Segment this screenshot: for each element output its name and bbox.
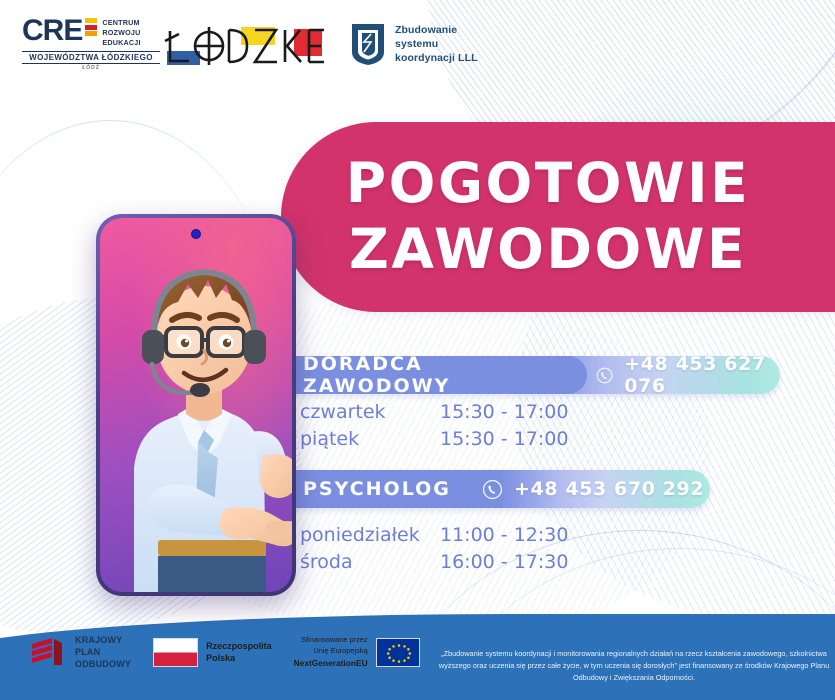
contact-title-psycholog: PSYCHOLOG [303, 478, 451, 500]
schedule-day: środa [300, 551, 440, 573]
eu-line-1: Sfinansowane przez [294, 635, 368, 646]
eu-line-3: NextGenerationEU [294, 657, 368, 669]
schedule-time: 16:00 - 17:30 [440, 551, 568, 573]
phone-handset-icon [596, 365, 613, 386]
kpo-line-1: KRAJOWY [75, 634, 131, 646]
cre-color-bars-icon [85, 18, 97, 36]
zbudowanie-line-3: koordynacji LLL [395, 51, 478, 65]
footer-logo-row: KRAJOWY PLAN ODBUDOWY Rzeczpospolita Pol… [28, 628, 420, 676]
header-logo-strip: CRE CENTRUM ROZWOJU EDUKACJI WOJEWÓDZTWA… [0, 0, 835, 92]
kpo-line-3: ODBUDOWY [75, 658, 131, 670]
cre-acronym: CRE [22, 16, 82, 46]
rp-text: Rzeczpospolita Polska [206, 640, 272, 665]
footer-disclaimer: „Zbudowanie systemu koordynacji i monito… [438, 648, 830, 683]
consultant-mascot-illustration [100, 218, 292, 592]
kpo-line-2: PLAN [75, 646, 131, 658]
rp-line-2: Polska [206, 652, 272, 664]
phone-handset-icon [482, 479, 503, 500]
zbudowanie-logo: Zbudowanie systemu koordynacji LLL [350, 22, 478, 66]
schedule-row: środa 16:00 - 17:30 [300, 551, 568, 578]
schedule-time: 15:30 - 17:00 [440, 428, 568, 450]
phone-screen [100, 218, 292, 592]
eu-text: Sfinansowane przez Unię Europejską NextG… [294, 635, 368, 669]
schedule-psycholog: poniedziałek 11:00 - 12:30 środa 16:00 -… [300, 524, 568, 578]
shield-book-icon [350, 22, 386, 66]
zbudowanie-line-1: Zbudowanie [395, 23, 478, 37]
lodzkie-logo [163, 21, 328, 71]
schedule-row: piątek 15:30 - 17:00 [300, 428, 568, 455]
schedule-time: 11:00 - 12:30 [440, 524, 568, 546]
schedule-row: poniedziałek 11:00 - 12:30 [300, 524, 568, 551]
kpo-text: KRAJOWY PLAN ODBUDOWY [75, 634, 131, 671]
phone-group-psycholog[interactable]: +48 453 670 292 [482, 470, 704, 508]
rp-line-1: Rzeczpospolita [206, 640, 272, 652]
contact-pill-psycholog[interactable]: PSYCHOLOG +48 453 670 292 [274, 470, 710, 508]
cre-line-1: CENTRUM [102, 18, 140, 28]
lodzkie-wordmark-icon [163, 21, 328, 71]
cre-city: ŁÓDŹ [22, 65, 160, 71]
eu-flag-icon [376, 638, 420, 667]
pill-label-block-psycholog: PSYCHOLOG [274, 470, 470, 508]
eu-stars-icon [377, 639, 421, 668]
contact-title-doradca: DORADCA ZAWODOWY [303, 353, 570, 397]
cre-line-3: EDUKACJI [102, 38, 140, 48]
schedule-day: czwartek [300, 401, 440, 423]
cre-logo: CRE CENTRUM ROZWOJU EDUKACJI WOJEWÓDZTWA… [22, 16, 160, 71]
phone-body [96, 214, 296, 596]
poland-flag-icon [153, 638, 198, 667]
eu-line-2: Unię Europejską [294, 646, 368, 657]
kpo-logo: KRAJOWY PLAN ODBUDOWY [28, 634, 131, 671]
kpo-building-icon [28, 634, 68, 670]
cre-line-2: ROZWOJU [102, 28, 140, 38]
zbudowanie-line-2: systemu [395, 37, 478, 51]
schedule-time: 15:30 - 17:00 [440, 401, 568, 423]
rzeczpospolita-polska-logo: Rzeczpospolita Polska [153, 638, 272, 667]
pill-label-block-doradca: DORADCA ZAWODOWY [274, 356, 570, 394]
schedule-doradca: czwartek 15:30 - 17:00 piątek 15:30 - 17… [300, 401, 568, 455]
schedule-day: piątek [300, 428, 440, 450]
contact-phone-psycholog[interactable]: +48 453 670 292 [514, 478, 704, 500]
cre-subtitle: WOJEWÓDZTWA ŁÓDZKIEGO [22, 51, 160, 64]
phone-camera-icon [191, 229, 201, 239]
schedule-day: poniedziałek [300, 524, 440, 546]
schedule-row: czwartek 15:30 - 17:00 [300, 401, 568, 428]
poster-root: CRE CENTRUM ROZWOJU EDUKACJI WOJEWÓDZTWA… [0, 0, 835, 700]
cre-full-name: CENTRUM ROZWOJU EDUKACJI [102, 18, 140, 49]
contact-phone-doradca[interactable]: +48 453 627 076 [624, 353, 780, 397]
zbudowanie-text: Zbudowanie systemu koordynacji LLL [395, 23, 478, 66]
contact-pill-doradca[interactable]: DORADCA ZAWODOWY +48 453 627 076 [274, 356, 780, 394]
phone-group-doradca[interactable]: +48 453 627 076 [596, 356, 780, 394]
eu-funding-logo: Sfinansowane przez Unię Europejską NextG… [294, 635, 420, 669]
smartphone-mockup [96, 214, 296, 596]
